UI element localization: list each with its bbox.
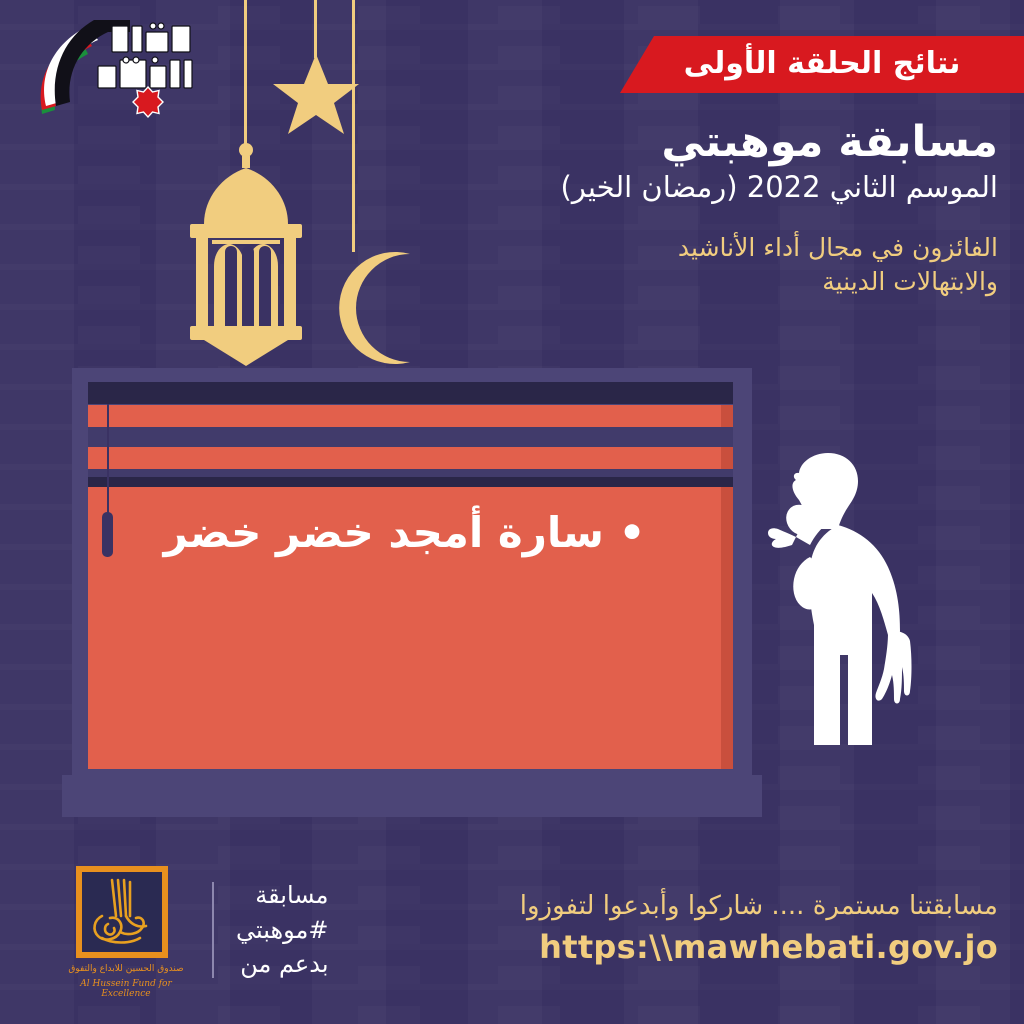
jordan-seven-pointed-star-icon xyxy=(133,87,163,117)
ministry-logo-svg xyxy=(22,14,200,134)
al-hussein-fund-logo: صندوق الحسين للابداع والتفوق Al Hussein … xyxy=(62,860,190,1000)
page-title: مسابقة موهبتي xyxy=(408,118,998,166)
sponsor-block: صندوق الحسين للابداع والتفوق Al Hussein … xyxy=(62,860,329,1000)
hanging-star-icon xyxy=(272,52,360,144)
stage-base-ledge xyxy=(62,775,762,817)
page-subtitle: الموسم الثاني 2022 (رمضان الخير) xyxy=(408,170,998,205)
al-hussein-fund-english-name: Al Hussein Fund for Excellence xyxy=(62,979,190,999)
footer-promo-block: مسابقتنا مستمرة .... شاركوا وأبدعوا لتفو… xyxy=(398,889,998,966)
al-hussein-fund-arabic-name: صندوق الحسين للابداع والتفوق xyxy=(62,964,190,974)
singer-silhouette-icon xyxy=(752,445,952,790)
blind-header-bar xyxy=(88,382,733,404)
sponsor-caption: مسابقة #موهبتي بدعم من xyxy=(236,878,329,982)
tughra-calligraphy-icon xyxy=(82,872,162,952)
sponsor-caption-line-2: #موهبتي xyxy=(236,913,329,948)
crescent-cord xyxy=(352,0,355,252)
sponsor-caption-line-3: بدعم من xyxy=(236,947,329,982)
hanging-lantern-icon xyxy=(178,140,314,370)
al-hussein-fund-logo-frame xyxy=(76,866,168,958)
category-line-2: والابتهالات الدينية xyxy=(408,265,998,300)
winner-panel-shadow xyxy=(721,487,733,769)
star-cord xyxy=(314,0,317,58)
header-text-block: مسابقة موهبتي الموسم الثاني 2022 (رمضان … xyxy=(408,118,998,300)
lantern-cord xyxy=(244,0,247,152)
blind-stripe-purple-1 xyxy=(88,427,733,447)
blind-stripe-shadow-2 xyxy=(721,447,733,469)
blind-stripe-shadow-1 xyxy=(721,405,733,427)
ministry-of-culture-logo xyxy=(22,14,200,134)
winner-name: • سارة أمجد خضر خضر xyxy=(88,487,721,577)
episode-results-banner: نتائج الحلقة الأولى xyxy=(620,36,1024,93)
ministry-logo-arabic-top xyxy=(112,23,190,52)
footer-website-url[interactable]: https:\\mawhebati.gov.jo xyxy=(398,928,998,966)
blind-stripe-orange-1 xyxy=(88,405,721,427)
ministry-logo-arabic-bottom xyxy=(98,57,192,88)
sponsor-divider xyxy=(212,882,214,978)
category-line-1: الفائزون في مجال أداء الأناشيد xyxy=(408,231,998,266)
category-description: الفائزون في مجال أداء الأناشيد والابتهال… xyxy=(408,231,998,300)
footer-tagline: مسابقتنا مستمرة .... شاركوا وأبدعوا لتفو… xyxy=(398,889,998,924)
sponsor-caption-line-1: مسابقة xyxy=(236,878,329,913)
poster-canvas: نتائج الحلقة الأولى مسابقة موهبتي الموسم… xyxy=(0,0,1024,1024)
blind-stripe-orange-2 xyxy=(88,447,721,469)
